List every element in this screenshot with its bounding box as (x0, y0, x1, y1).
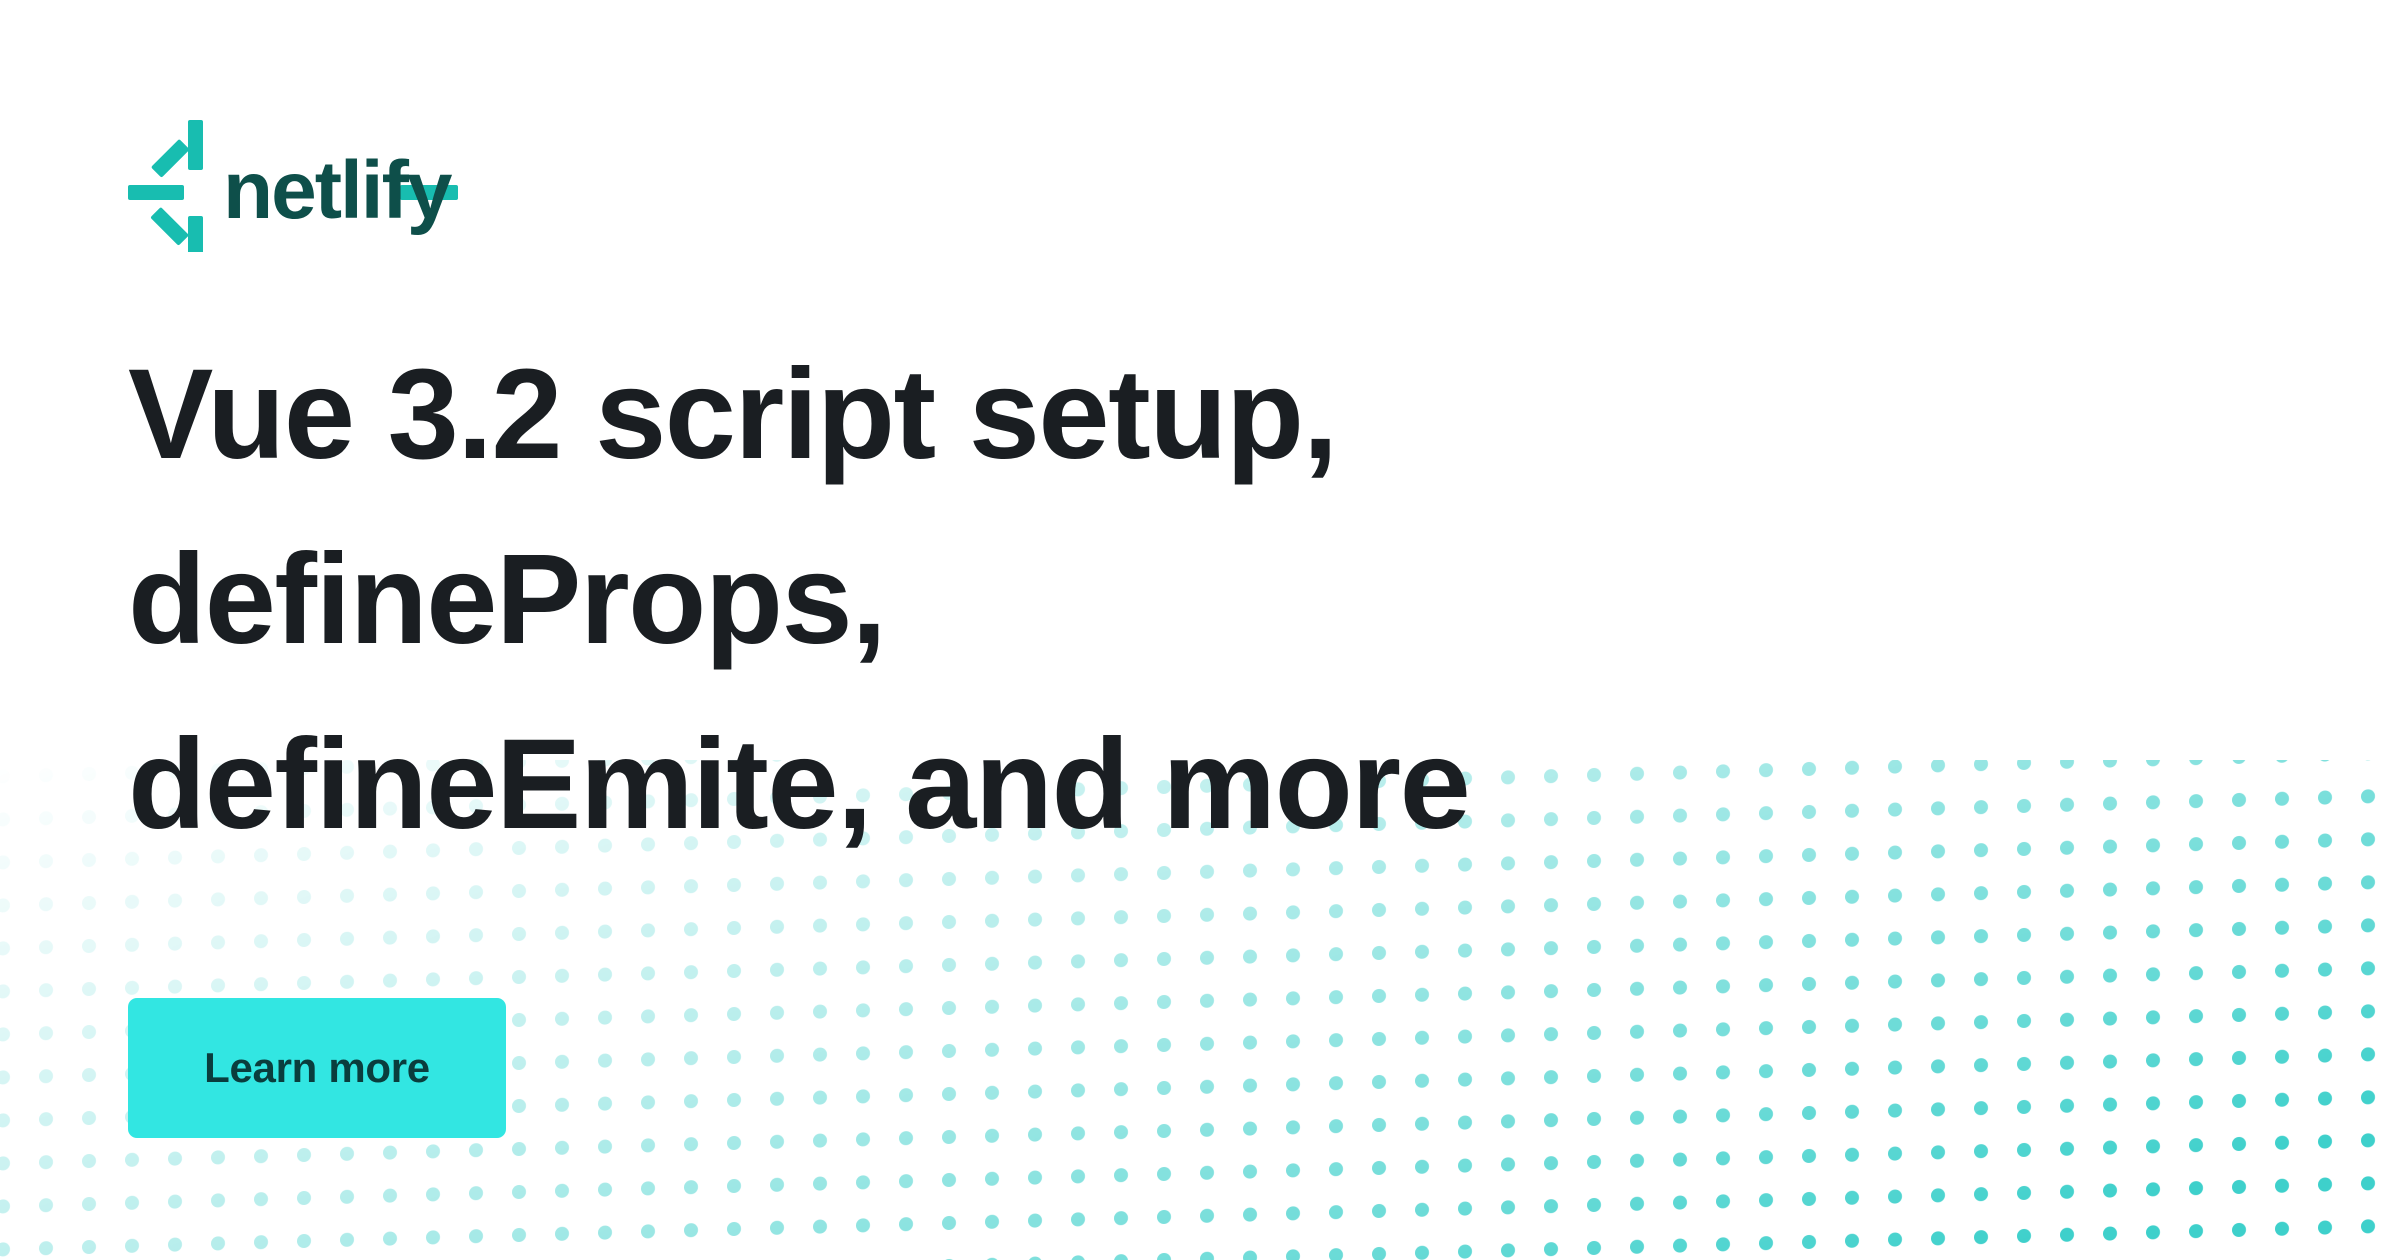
hero-banner: netlify Vue 3.2 script setup, defineProp… (0, 0, 2400, 1260)
learn-more-button[interactable]: Learn more (128, 998, 506, 1138)
ray-lower-left-diagonal (150, 207, 189, 246)
ray-bottom-vertical (188, 216, 203, 252)
page-title-line-3: defineEmite, and more (128, 692, 1828, 877)
netlify-wordmark: netlify (223, 145, 453, 236)
ray-left-horizontal (128, 185, 184, 200)
ray-top-vertical (188, 120, 203, 170)
netlify-sun-rays-icon: netlify (128, 120, 458, 252)
page-title: Vue 3.2 script setup, defineProps, defin… (128, 322, 1828, 877)
netlify-logo[interactable]: netlify (128, 120, 458, 252)
page-title-line-2: defineProps, (128, 507, 1828, 692)
ray-upper-left-diagonal (151, 139, 190, 178)
page-title-line-1: Vue 3.2 script setup, (128, 322, 1828, 507)
hero-content: netlify Vue 3.2 script setup, defineProp… (128, 0, 2228, 1260)
